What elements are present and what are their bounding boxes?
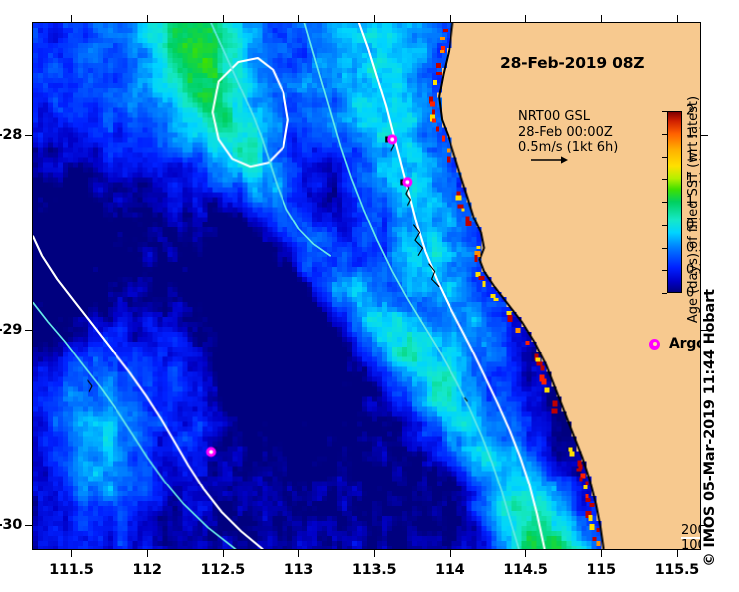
copyright-text: © IMOS 05-Mar-2019 11:44 Hobart xyxy=(702,289,718,567)
x-axis-tick-top xyxy=(677,15,678,22)
contour-1000m-label: 1000m xyxy=(681,538,701,550)
colorbar-tick xyxy=(662,134,667,135)
x-axis-tick xyxy=(601,550,602,557)
argo-legend: Argo xyxy=(649,336,701,352)
x-axis-label: 112 xyxy=(132,562,161,578)
x-axis-label: 114.5 xyxy=(503,562,547,578)
colorbar-title: Age (days) of filled SST (wrt latest) xyxy=(686,96,701,323)
x-axis-tick-top xyxy=(374,15,375,22)
y-axis-tick xyxy=(25,525,32,526)
y-axis-tick xyxy=(25,330,32,331)
contour-200m-label: 200m xyxy=(681,523,701,538)
x-axis-tick xyxy=(525,550,526,557)
x-axis-tick-top xyxy=(223,15,224,22)
colorbar-tick xyxy=(662,202,667,203)
colorbar-tick xyxy=(662,270,667,271)
x-axis-tick-top xyxy=(298,15,299,22)
current-time-label: 28-Feb 00:00Z xyxy=(518,125,618,141)
y-axis-label: -30 xyxy=(0,517,22,533)
sst-age-heatmap-canvas xyxy=(33,23,700,549)
colorbar-gradient xyxy=(667,111,682,293)
current-source-label: NRT00 GSL xyxy=(518,109,618,125)
x-axis-tick xyxy=(677,550,678,557)
y-axis-tick xyxy=(25,135,32,136)
x-axis-tick xyxy=(71,550,72,557)
x-axis-label: 112.5 xyxy=(201,562,245,578)
colorbar-tick xyxy=(662,111,667,112)
colorbar-tick xyxy=(662,157,667,158)
sst-age-map-figure: 28-Feb-2019 08Z NRT00 GSL 28-Feb 00:00Z … xyxy=(0,0,739,592)
colorbar: 00.250.50.7511.251.51.752 xyxy=(667,111,682,293)
x-axis-tick-top xyxy=(71,15,72,22)
x-axis-tick-top xyxy=(147,15,148,22)
page-title: 28-Feb-2019 08Z xyxy=(500,54,644,72)
colorbar-tick xyxy=(662,248,667,249)
colorbar-tick xyxy=(662,225,667,226)
y-axis-tick-right xyxy=(701,135,708,136)
map-plot-area: 28-Feb-2019 08Z NRT00 GSL 28-Feb 00:00Z … xyxy=(32,22,701,550)
x-axis-label: 111.5 xyxy=(49,562,93,578)
x-axis-tick xyxy=(147,550,148,557)
x-axis-tick xyxy=(450,550,451,557)
vector-arrow-icon xyxy=(530,154,568,166)
y-axis-label: -29 xyxy=(0,322,22,338)
x-axis-tick-top xyxy=(525,15,526,22)
x-axis-tick xyxy=(223,550,224,557)
argo-legend-label: Argo xyxy=(669,336,701,352)
depth-contour-legend: 200m 1000m xyxy=(681,523,701,550)
x-axis-label: 113 xyxy=(284,562,313,578)
colorbar-tick xyxy=(662,293,667,294)
x-axis-label: 113.5 xyxy=(352,562,396,578)
x-axis-label: 114 xyxy=(435,562,464,578)
x-axis-label: 115.5 xyxy=(655,562,699,578)
current-annotation: NRT00 GSL 28-Feb 00:00Z 0.5m/s (1kt 6h) xyxy=(518,109,618,156)
x-axis-tick-top xyxy=(601,15,602,22)
argo-float-marker-icon xyxy=(649,339,660,350)
y-axis-label: -28 xyxy=(0,127,22,143)
x-axis-tick xyxy=(298,550,299,557)
x-axis-tick xyxy=(374,550,375,557)
colorbar-tick xyxy=(662,179,667,180)
x-axis-label: 115 xyxy=(586,562,615,578)
x-axis-tick-top xyxy=(450,15,451,22)
